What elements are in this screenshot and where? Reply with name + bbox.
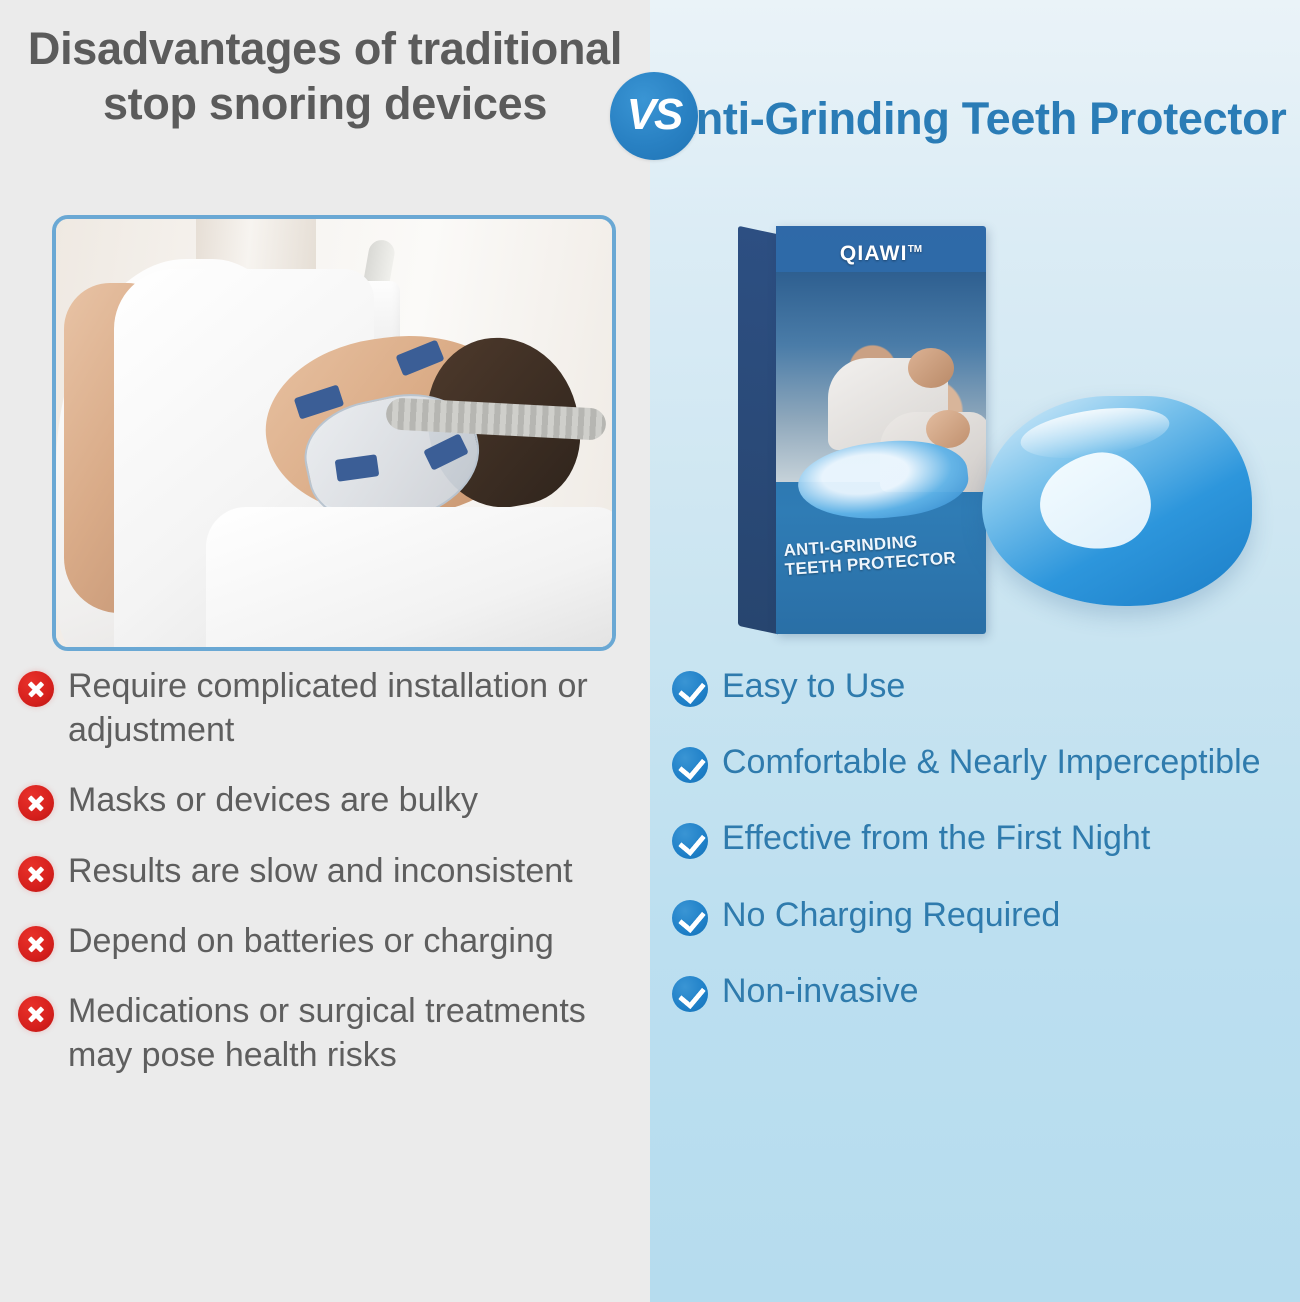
list-item: Easy to Use [672,664,1288,708]
list-item: No Charging Required [672,893,1288,937]
list-item-label: Medications or surgical treatments may p… [68,989,638,1077]
list-item: Medications or surgical treatments may p… [18,989,638,1077]
pillow [206,507,616,651]
package-brand-name: QIAWI [840,242,908,265]
list-item: Comfortable & Nearly Imperceptible [672,740,1288,784]
trademark-symbol: TM [908,244,922,255]
list-item: Effective from the First Night [672,816,1288,860]
list-item: Masks or devices are bulky [18,778,638,822]
package-brand: QIAWITM [776,242,986,266]
cross-icon [18,856,54,892]
cross-icon [18,671,54,707]
list-item: Depend on batteries or charging [18,919,638,963]
disadvantage-list: Require complicated installation or adju… [18,664,638,1103]
package-sleeper-two-head [926,410,970,448]
check-circle-icon [672,747,708,783]
cross-icon [18,926,54,962]
check-circle-icon [672,823,708,859]
list-item-label: Effective from the First Night [722,816,1150,860]
check-circle-icon [672,976,708,1012]
check-circle-icon [672,671,708,707]
package-front-panel: QIAWITM ANTI-GRINDING TEETH PROTECTOR [776,226,986,634]
product-image: QIAWITM ANTI-GRINDING TEETH PROTECTOR [650,208,1300,648]
list-item-label: Comfortable & Nearly Imperceptible [722,740,1261,784]
list-item-label: Masks or devices are bulky [68,778,478,822]
right-panel-advantages: Anti-Grinding Teeth Protector QIAWITM AN… [650,0,1300,1302]
versus-badge: VS [610,72,698,160]
list-item-label: Non-invasive [722,969,919,1013]
list-item: Non-invasive [672,969,1288,1013]
list-item-label: No Charging Required [722,893,1060,937]
check-circle-icon [672,900,708,936]
comparison-infographic: Disadvantages of traditional stop snorin… [0,0,1300,1302]
list-item: Require complicated installation or adju… [18,664,638,752]
advantage-list: Easy to Use Comfortable & Nearly Imperce… [672,664,1288,1045]
versus-badge-label: VS [627,93,682,137]
list-item-label: Require complicated installation or adju… [68,664,638,752]
package-sleeper-one-head [908,348,954,388]
list-item-label: Depend on batteries or charging [68,919,554,963]
cpap-photo [52,215,616,651]
list-item: Results are slow and inconsistent [18,849,638,893]
cross-icon [18,785,54,821]
list-item-label: Easy to Use [722,664,905,708]
list-item-label: Results are slow and inconsistent [68,849,573,893]
package-caption: ANTI-GRINDING TEETH PROTECTOR [783,527,986,579]
cpap-illustration [56,219,612,647]
left-panel-disadvantages: Disadvantages of traditional stop snorin… [0,0,650,1302]
right-panel-title: Anti-Grinding Teeth Protector [650,92,1300,147]
mouthguard-product [982,396,1252,606]
left-panel-title: Disadvantages of traditional stop snorin… [0,22,650,132]
cross-icon [18,996,54,1032]
package-side-panel [738,226,778,635]
